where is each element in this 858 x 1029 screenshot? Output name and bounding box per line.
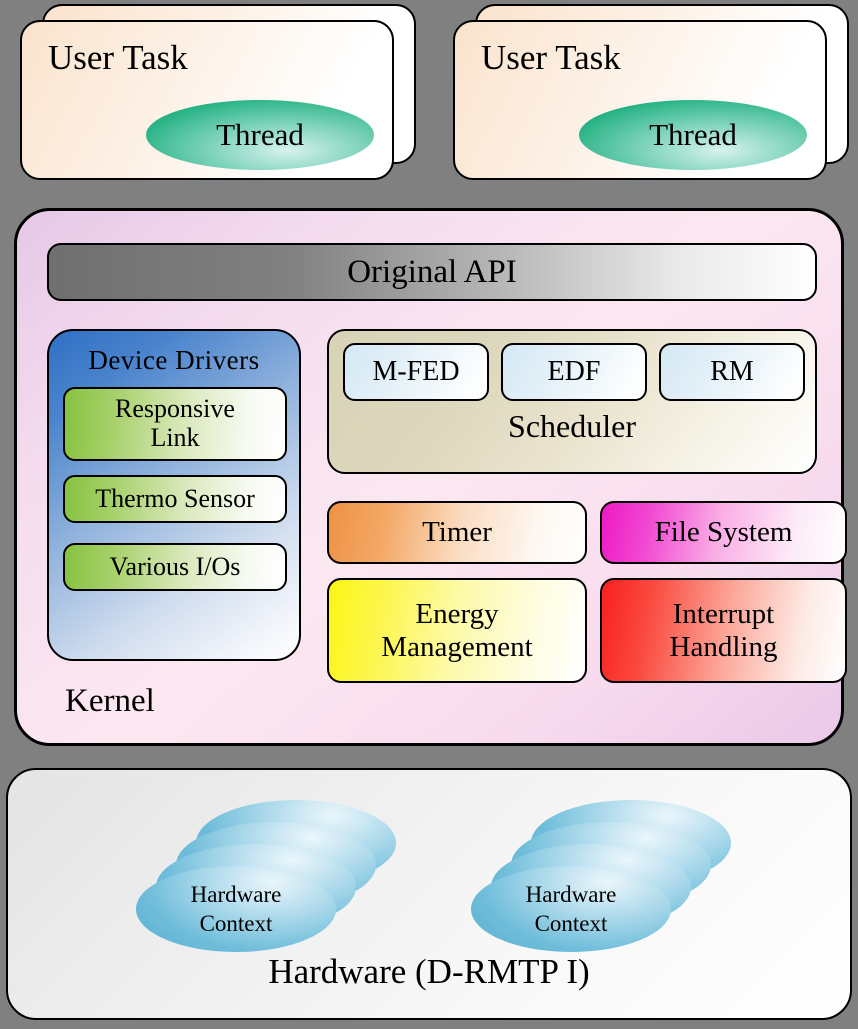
hardware-context-line1-1: Hardware	[191, 880, 282, 909]
diagram-canvas: User Task Thread User Task Thread Origin…	[0, 0, 858, 1029]
hardware-context-stack-1[interactable]: Hardware Context	[136, 800, 376, 960]
scheduler-box[interactable]: M-FED EDF RM Scheduler	[327, 329, 817, 474]
thread-ellipse-2[interactable]: Thread	[579, 100, 807, 170]
edf-label: EDF	[548, 356, 601, 387]
energy-management-line2: Management	[381, 631, 532, 663]
hardware-context-line1-2: Hardware	[526, 880, 617, 909]
hardware-container[interactable]: Hardware Context Hardware Context Hardwa…	[6, 768, 852, 1020]
thread-label-1: Thread	[216, 117, 304, 153]
user-task-card-2[interactable]: User Task Thread	[453, 4, 853, 184]
m-fed-label: M-FED	[372, 356, 459, 387]
thread-ellipse-1[interactable]: Thread	[146, 100, 374, 170]
hardware-context-label-1: Hardware Context	[136, 866, 336, 952]
responsive-link-line2: Link	[115, 424, 235, 453]
original-api-bar[interactable]: Original API	[47, 243, 817, 301]
service-interrupt-handling[interactable]: Interrupt Handling	[600, 578, 847, 683]
device-drivers-title: Device Drivers	[49, 345, 299, 375]
scheduler-title: Scheduler	[329, 409, 815, 445]
user-task-front-1[interactable]: User Task Thread	[20, 20, 394, 180]
hardware-context-line2-1: Context	[200, 909, 273, 938]
thermo-sensor-label: Thermo Sensor	[95, 485, 255, 514]
service-file-system[interactable]: File System	[600, 501, 847, 564]
kernel-label: Kernel	[65, 683, 155, 720]
responsive-link-line1: Responsive	[115, 395, 235, 424]
hardware-context-line2-2: Context	[535, 909, 608, 938]
original-api-label: Original API	[347, 254, 517, 291]
device-driver-responsive-link[interactable]: Responsive Link	[63, 387, 287, 461]
kernel-container[interactable]: Original API Device Drivers Responsive L…	[14, 208, 844, 746]
hardware-label: Hardware (D-RMTP I)	[8, 952, 850, 992]
timer-label: Timer	[422, 516, 492, 548]
energy-management-line1: Energy	[381, 598, 532, 630]
interrupt-handling-line1: Interrupt	[670, 598, 778, 630]
hardware-context-stack-2[interactable]: Hardware Context	[471, 800, 711, 960]
device-driver-various-ios[interactable]: Various I/Os	[63, 543, 287, 591]
user-task-front-2[interactable]: User Task Thread	[453, 20, 827, 180]
hardware-context-label-2: Hardware Context	[471, 866, 671, 952]
device-driver-thermo-sensor[interactable]: Thermo Sensor	[63, 475, 287, 523]
file-system-label: File System	[655, 516, 793, 548]
device-drivers-box[interactable]: Device Drivers Responsive Link Thermo Se…	[47, 329, 301, 661]
user-task-label-1: User Task	[48, 38, 188, 78]
service-energy-management[interactable]: Energy Management	[327, 578, 587, 683]
scheduler-algorithm-m-fed[interactable]: M-FED	[343, 343, 489, 401]
user-task-card-1[interactable]: User Task Thread	[20, 4, 420, 184]
scheduler-algorithm-edf[interactable]: EDF	[501, 343, 647, 401]
thread-label-2: Thread	[649, 117, 737, 153]
scheduler-algorithm-rm[interactable]: RM	[659, 343, 805, 401]
user-task-label-2: User Task	[481, 38, 621, 78]
rm-label: RM	[710, 356, 754, 387]
various-ios-label: Various I/Os	[110, 553, 241, 582]
service-timer[interactable]: Timer	[327, 501, 587, 564]
interrupt-handling-line2: Handling	[670, 631, 778, 663]
